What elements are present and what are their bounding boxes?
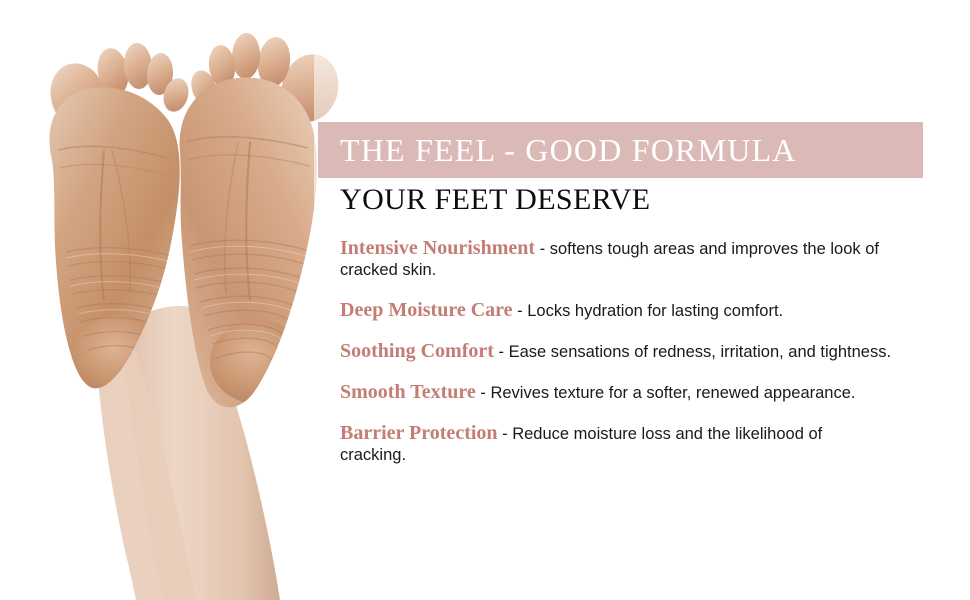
benefit-description: Ease sensations of redness, irritation, … <box>509 343 891 361</box>
benefit-term: Barrier Protection <box>340 422 498 444</box>
benefits-list: Intensive Nourishment - softens tough ar… <box>340 238 892 466</box>
benefit-term: Soothing Comfort <box>340 340 494 362</box>
benefit-term: Deep Moisture Care <box>340 299 513 321</box>
benefit-term: Intensive Nourishment <box>340 237 535 259</box>
headline-banner-title: THE FEEL - GOOD FORMULA <box>340 130 797 170</box>
list-item: Soothing Comfort - Ease sensations of re… <box>340 341 892 363</box>
benefit-description: Locks hydration for lasting comfort. <box>527 302 783 320</box>
benefit-term: Smooth Texture <box>340 381 476 403</box>
feet-illustration <box>0 0 340 600</box>
list-item: Intensive Nourishment - softens tough ar… <box>340 238 892 281</box>
benefit-description: Revives texture for a softer, renewed ap… <box>490 384 855 402</box>
promo-banner-canvas: THE FEEL - GOOD FORMULA YOUR FEET DESERV… <box>0 0 970 600</box>
page-subtitle: YOUR FEET DESERVE <box>340 183 651 217</box>
bare-feet-soles-photo <box>0 0 340 600</box>
headline-banner: THE FEEL - GOOD FORMULA <box>318 122 923 178</box>
list-item: Barrier Protection - Reduce moisture los… <box>340 423 892 466</box>
list-item: Smooth Texture - Revives texture for a s… <box>340 382 892 404</box>
list-item: Deep Moisture Care - Locks hydration for… <box>340 300 892 322</box>
